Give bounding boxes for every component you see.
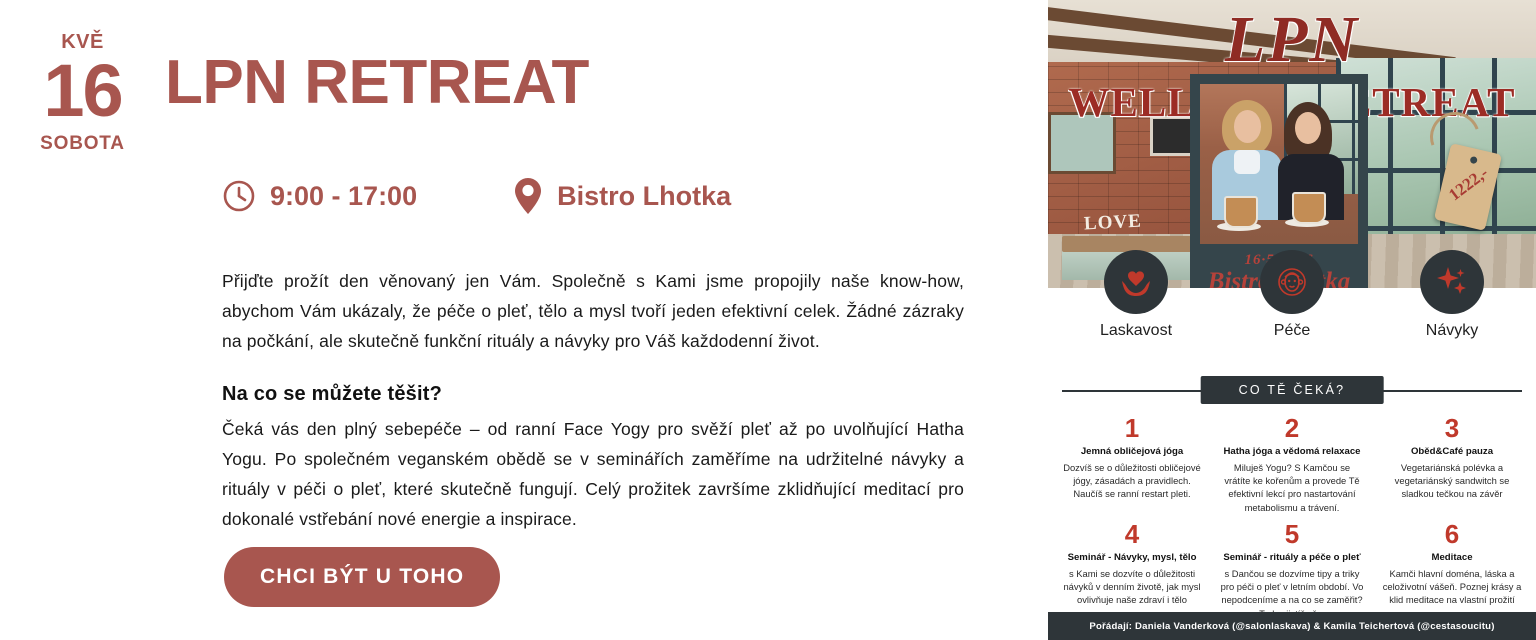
- program-step: 4 Seminář - Návyky, mysl, tělo s Kami se…: [1054, 520, 1210, 620]
- price-tag-text: 1222,-: [1442, 160, 1496, 207]
- step-title: Jemná obličejová jóga: [1060, 446, 1204, 458]
- program-step: 3 Oběd&Café pauza Vegetariánská polévka …: [1374, 414, 1530, 514]
- event-time: 9:00 - 17:00: [222, 179, 417, 213]
- signup-button[interactable]: CHCI BÝT U TOHO: [224, 547, 500, 607]
- event-venue: Bistro Lhotka: [513, 176, 731, 216]
- section-banner: CO TĚ ČEKÁ?: [1048, 376, 1536, 406]
- event-details-panel: KVĚ 16 SOBOTA LPN RETREAT 9:00 - 17:00: [0, 0, 1048, 640]
- program-step: 1 Jemná obličejová jóga Dozvíš se o důle…: [1054, 414, 1210, 514]
- step-title: Meditace: [1380, 552, 1524, 564]
- poster-pillars: Laskavost Péče: [1048, 288, 1536, 362]
- person-two-face: [1295, 112, 1321, 144]
- coffee-cup-icon: [1224, 196, 1258, 228]
- person-one-face: [1234, 110, 1261, 143]
- poster-footer: Pořádají: Daniela Vanderková (@salonlask…: [1048, 612, 1536, 640]
- poster-brand-script: LPN: [1048, 2, 1536, 78]
- step-description: Kamči hlavní doména, láska a celoživotní…: [1380, 567, 1524, 607]
- page-title: LPN RETREAT: [165, 50, 1048, 115]
- pillar-laskavost: Laskavost: [1076, 250, 1196, 340]
- event-description-text: Čeká vás den plný sebepéče – od ranní Fa…: [222, 414, 964, 534]
- step-description: Dozvíš se o důležitosti obličejové jógy,…: [1060, 461, 1204, 501]
- pillar-label: Laskavost: [1076, 322, 1196, 340]
- section-banner-label: CO TĚ ČEKÁ?: [1201, 376, 1384, 404]
- date-weekday: SOBOTA: [0, 134, 165, 153]
- event-header: KVĚ 16 SOBOTA LPN RETREAT: [0, 26, 1048, 153]
- poster-portrait-photo: [1200, 84, 1358, 244]
- step-number: 3: [1380, 414, 1524, 443]
- step-number: 2: [1220, 414, 1364, 443]
- step-description: Miluješ Yogu? S Kamčou se vrátíte ke koř…: [1220, 461, 1364, 514]
- coffee-cup-icon: [1292, 192, 1326, 224]
- date-day: 16: [0, 54, 165, 128]
- title-column: LPN RETREAT: [165, 26, 1048, 115]
- program-step: 6 Meditace Kamči hlavní doména, láska a …: [1374, 520, 1530, 620]
- pillar-label: Návyky: [1392, 322, 1512, 340]
- step-number: 5: [1220, 520, 1364, 549]
- step-number: 6: [1380, 520, 1524, 549]
- event-poster-panel: LOVE LPN WELLNESS RETREAT 1222,-: [1048, 0, 1536, 640]
- step-title: Oběd&Café pauza: [1380, 446, 1524, 458]
- poster-footer-text: Pořádají: Daniela Vanderková (@salonlask…: [1089, 621, 1494, 632]
- step-title: Hatha jóga a vědomá relaxace: [1220, 446, 1364, 458]
- step-description: Vegetariánská polévka a vegetariánský sa…: [1380, 461, 1524, 501]
- heart-in-hands-icon: [1104, 250, 1168, 314]
- person-one-collar: [1234, 150, 1260, 174]
- step-title: Seminář - rituály a péče o pleť: [1220, 552, 1364, 564]
- clock-icon: [222, 179, 256, 213]
- event-intro-text: Přijďte prožít den věnovaný jen Vám. Spo…: [222, 266, 964, 356]
- event-page: KVĚ 16 SOBOTA LPN RETREAT 9:00 - 17:00: [0, 0, 1536, 640]
- event-date-block: KVĚ 16 SOBOTA: [0, 26, 165, 153]
- program-step: 5 Seminář - rituály a péče o pleť s Danč…: [1214, 520, 1370, 620]
- event-subheading: Na co se můžete těšit?: [222, 383, 442, 406]
- step-number: 4: [1060, 520, 1204, 549]
- event-time-text: 9:00 - 17:00: [270, 181, 417, 212]
- step-description: s Kami se dozvíte o důležitosti návyků v…: [1060, 567, 1204, 607]
- location-pin-icon: [513, 176, 543, 216]
- poster-image: LOVE LPN WELLNESS RETREAT 1222,-: [1048, 0, 1536, 288]
- program-step: 2 Hatha jóga a vědomá relaxace Miluješ Y…: [1214, 414, 1370, 514]
- step-number: 1: [1060, 414, 1204, 443]
- face-care-icon: [1260, 250, 1324, 314]
- event-meta: 9:00 - 17:00 Bistro Lhotka: [222, 176, 731, 216]
- step-title: Seminář - Návyky, mysl, tělo: [1060, 552, 1204, 564]
- sparkles-icon: [1420, 250, 1484, 314]
- poster-love-sign: LOVE: [1083, 211, 1142, 236]
- program-steps-grid: 1 Jemná obličejová jóga Dozvíš se o důle…: [1048, 406, 1536, 620]
- pillar-label: Péče: [1232, 322, 1352, 340]
- event-venue-text: Bistro Lhotka: [557, 181, 731, 212]
- pillar-pece: Péče: [1232, 250, 1352, 340]
- pillar-navyky: Návyky: [1392, 250, 1512, 340]
